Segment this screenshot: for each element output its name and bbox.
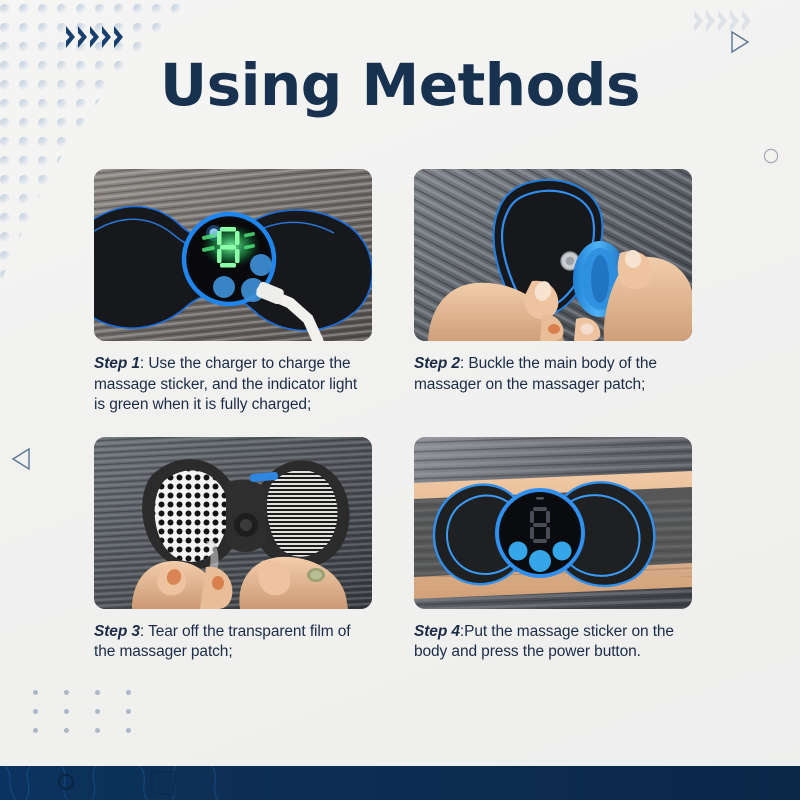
- step-caption-2: Step 2: Buckle the main body of the mass…: [414, 354, 692, 395]
- step-caption-4: Step 4:Put the massage sticker on the bo…: [414, 622, 692, 663]
- step-card-2: Step 2: Buckle the main body of the mass…: [414, 169, 692, 416]
- steps-grid: Step 1: Use the charger to charge the ma…: [94, 169, 698, 663]
- step-caption-3: Step 3: Tear off the transparent film of…: [94, 622, 372, 663]
- step-separator-3: :: [140, 623, 148, 640]
- chevron-group-right: [694, 10, 754, 32]
- step-label-2: Step 2: [414, 355, 460, 372]
- chevron-right-icon: [66, 26, 75, 48]
- circle-outline-icon: [763, 148, 779, 164]
- chevron-right-icon: [114, 26, 123, 48]
- chevron-right-icon: [706, 10, 715, 32]
- triangle-left-icon: [10, 447, 32, 471]
- photo-charging-massager: [94, 169, 372, 341]
- photo-wear-on-body: [414, 437, 692, 609]
- poster-canvas: Using Methods: [0, 0, 800, 800]
- step-card-4: Step 4:Put the massage sticker on the bo…: [414, 437, 692, 663]
- photo-buckle-main-body: [414, 169, 692, 341]
- chevron-right-icon: [102, 26, 111, 48]
- step-caption-1: Step 1: Use the charger to charge the ma…: [94, 354, 372, 416]
- chevron-right-icon: [718, 10, 727, 32]
- chevron-right-icon: [742, 10, 751, 32]
- chevron-right-icon: [78, 26, 87, 48]
- dot-grid-decoration: [33, 690, 157, 747]
- step-label-4: Step 4: [414, 623, 460, 640]
- photo-tear-off-film: [94, 437, 372, 609]
- step-card-1: Step 1: Use the charger to charge the ma…: [94, 169, 372, 416]
- page-title: Using Methods: [0, 56, 800, 114]
- bottom-banner: [0, 766, 800, 800]
- triangle-right-icon: [729, 30, 751, 54]
- chevron-group-left: [66, 26, 126, 48]
- chevron-right-icon: [694, 10, 703, 32]
- step-card-3: Step 3: Tear off the transparent film of…: [94, 437, 372, 663]
- step-label-1: Step 1: [94, 355, 140, 372]
- step-label-3: Step 3: [94, 623, 140, 640]
- chevron-right-icon: [730, 10, 739, 32]
- chevron-right-icon: [90, 26, 99, 48]
